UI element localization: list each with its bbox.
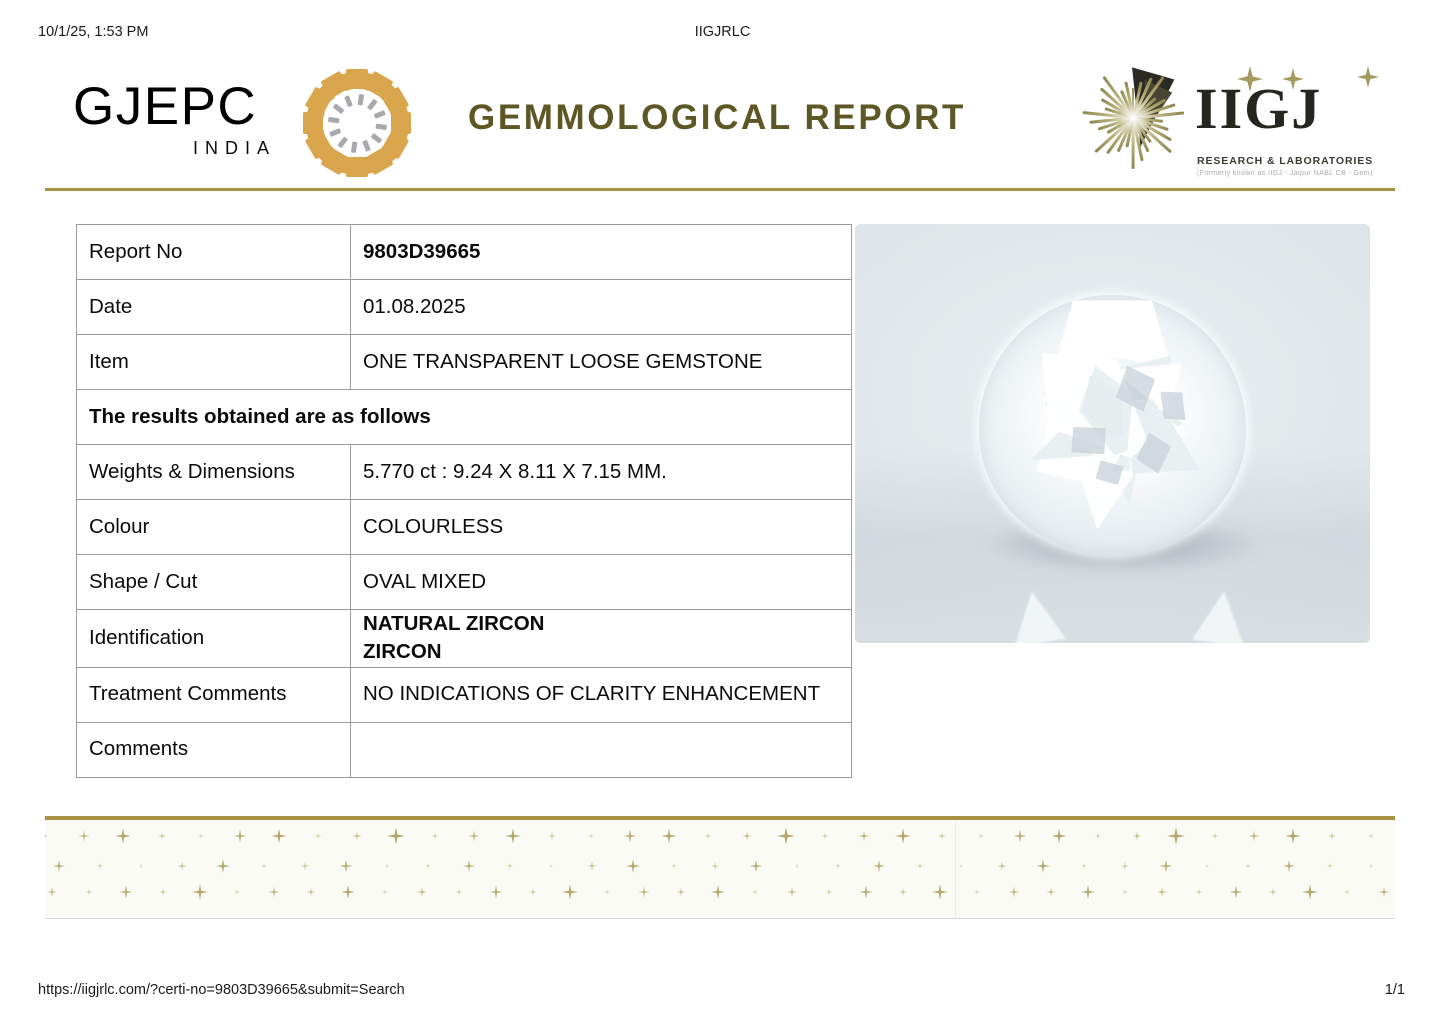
- four-point-star-icon: [261, 863, 267, 869]
- tweezer-prong-right-icon: [1192, 588, 1250, 643]
- gjepc-sunburst-icon: [298, 64, 416, 182]
- four-point-star-icon: [752, 889, 758, 895]
- four-point-star-icon: [917, 863, 924, 870]
- four-point-star-icon: [469, 831, 480, 842]
- four-point-star-icon: [216, 859, 230, 873]
- table-row: Colour COLOURLESS: [77, 500, 852, 555]
- four-point-star-icon: [1133, 832, 1142, 841]
- four-point-star-icon: [1344, 889, 1350, 895]
- four-point-star-icon: [1009, 887, 1020, 898]
- gjepc-emblem-tick: [357, 94, 363, 106]
- four-point-star-icon: [1036, 859, 1050, 873]
- four-point-star-icon: [626, 859, 640, 873]
- four-point-star-icon: [340, 860, 353, 873]
- row-value-colour: COLOURLESS: [351, 500, 852, 555]
- four-point-star-icon: [86, 889, 93, 896]
- four-point-star-icon: [705, 833, 712, 840]
- four-point-star-icon: [895, 828, 911, 844]
- table-row: Item ONE TRANSPARENT LOOSE GEMSTONE: [77, 335, 852, 390]
- four-point-star-icon: [159, 888, 167, 896]
- four-point-star-icon: [234, 889, 240, 895]
- four-point-star-icon: [505, 828, 521, 844]
- four-point-star-icon: [139, 864, 144, 869]
- four-point-star-icon: [711, 885, 725, 899]
- row-label-report-no: Report No: [77, 225, 351, 280]
- iigj-wordmark: IIGJ: [1195, 80, 1322, 138]
- gemstone-oval: [979, 295, 1247, 555]
- table-row-results-banner: The results obtained are as follows: [77, 390, 852, 445]
- gjepc-emblem-tick: [373, 110, 385, 119]
- gjepc-logo: GJEPC INDIA: [73, 62, 383, 182]
- four-point-star-icon: [382, 889, 388, 895]
- four-point-star-icon: [120, 886, 133, 899]
- gjepc-emblem-tick: [327, 117, 339, 123]
- four-point-star-icon: [47, 887, 57, 897]
- four-point-star-icon: [1047, 888, 1056, 897]
- four-point-star-icon: [711, 862, 719, 870]
- row-value-identification: NATURAL ZIRCON ZIRCON: [351, 610, 852, 668]
- four-point-star-icon: [677, 888, 686, 897]
- four-point-star-icon: [899, 888, 907, 896]
- gemstone-photo: [855, 224, 1370, 643]
- tweezer-prong-left-icon: [1006, 587, 1065, 643]
- row-label-treatment-comments: Treatment Comments: [77, 667, 351, 722]
- four-point-star-icon: [938, 832, 946, 840]
- four-point-star-icon: [272, 829, 287, 844]
- results-banner-text: The results obtained are as follows: [77, 390, 852, 445]
- band-divider: [45, 816, 1395, 820]
- four-point-star-icon: [353, 832, 362, 841]
- table-row: Comments: [77, 722, 852, 777]
- four-point-star-icon: [549, 864, 554, 869]
- four-point-star-icon: [548, 832, 556, 840]
- four-point-star-icon: [859, 831, 870, 842]
- four-point-star-icon: [1205, 864, 1210, 869]
- four-point-star-icon: [1302, 884, 1318, 900]
- four-point-star-icon: [307, 888, 316, 897]
- gjepc-emblem-tick: [332, 103, 344, 114]
- four-point-star-icon: [1052, 829, 1067, 844]
- four-point-star-icon: [463, 860, 475, 872]
- four-point-star-icon: [562, 884, 578, 900]
- table-row: Weights & Dimensions 5.770 ct : 9.24 X 8…: [77, 445, 852, 500]
- print-document-title: IIGJRLC: [0, 24, 1445, 40]
- gjepc-emblem-tick: [337, 137, 348, 149]
- sparkle-star-icon: [1357, 66, 1379, 88]
- row-value-item: ONE TRANSPARENT LOOSE GEMSTONE: [351, 335, 852, 390]
- gjepc-emblem-tick: [375, 124, 387, 130]
- browser-print-header: 10/1/25, 1:53 PM IIGJRLC: [0, 24, 1445, 44]
- four-point-star-icon: [974, 889, 980, 895]
- four-point-star-icon: [1245, 863, 1251, 869]
- four-point-star-icon: [53, 860, 65, 872]
- page-title: GEMMOLOGICAL REPORT: [417, 98, 1017, 138]
- four-point-star-icon: [1157, 887, 1167, 897]
- row-value-date: 01.08.2025: [351, 280, 852, 335]
- row-value-treatment-comments: NO INDICATIONS OF CLARITY ENHANCEMENT: [351, 667, 852, 722]
- table-row: Treatment Comments NO INDICATIONS OF CLA…: [77, 667, 852, 722]
- four-point-star-icon: [1095, 833, 1102, 840]
- gjepc-emblem-tick: [370, 133, 382, 144]
- four-point-star-icon: [341, 885, 355, 899]
- four-point-star-icon: [1328, 832, 1336, 840]
- four-point-star-icon: [507, 863, 514, 870]
- page-number: 1/1: [1385, 982, 1405, 998]
- four-point-star-icon: [588, 862, 597, 871]
- four-point-star-icon: [158, 832, 166, 840]
- gjepc-wordmark: GJEPC: [73, 80, 257, 133]
- row-label-shape-cut: Shape / Cut: [77, 555, 351, 610]
- iigj-subtext-small: (Formerly known as IIGJ - Jaipur NABL CB…: [1197, 170, 1373, 177]
- four-point-star-icon: [624, 830, 637, 843]
- iigj-subtext: RESEARCH & LABORATORIES: [1197, 155, 1373, 167]
- row-label-date: Date: [77, 280, 351, 335]
- four-point-star-icon: [1196, 889, 1203, 896]
- four-point-star-icon: [1369, 864, 1374, 869]
- four-point-star-icon: [743, 832, 752, 841]
- four-point-star-icon: [315, 833, 322, 840]
- browser-print-footer: https://iigjrlc.com/?certi-no=9803D39665…: [0, 982, 1445, 1002]
- four-point-star-icon: [662, 829, 677, 844]
- four-point-star-icon: [998, 862, 1007, 871]
- report-masthead: GJEPC INDIA GEMMOLOGICAL REPORT IIGJ RES…: [45, 52, 1393, 182]
- four-point-star-icon: [79, 831, 90, 842]
- four-point-star-icon: [671, 863, 677, 869]
- four-point-star-icon: [1230, 886, 1243, 899]
- four-point-star-icon: [385, 864, 390, 869]
- four-point-star-icon: [787, 887, 797, 897]
- masthead-divider: [45, 188, 1395, 191]
- four-point-star-icon: [777, 827, 795, 845]
- gjepc-emblem-tick: [366, 99, 377, 111]
- four-point-star-icon: [234, 830, 247, 843]
- four-point-star-icon: [1122, 889, 1128, 895]
- four-point-star-icon: [978, 833, 984, 839]
- four-point-star-icon: [456, 889, 463, 896]
- four-point-star-icon: [192, 884, 208, 900]
- four-point-star-icon: [604, 889, 610, 895]
- row-value-weights-dimensions: 5.770 ct : 9.24 X 8.11 X 7.15 MM.: [351, 445, 852, 500]
- four-point-star-icon: [1283, 860, 1295, 872]
- four-point-star-icon: [1285, 828, 1301, 844]
- four-point-star-icon: [860, 886, 873, 899]
- table-row: Identification NATURAL ZIRCON ZIRCON: [77, 610, 852, 668]
- four-point-star-icon: [873, 860, 885, 872]
- four-point-star-icon: [198, 833, 204, 839]
- decorative-sparkle-band: [45, 816, 1395, 919]
- table-row: Date 01.08.2025: [77, 280, 852, 335]
- four-point-star-icon: [1327, 863, 1334, 870]
- four-point-star-icon: [1160, 860, 1173, 873]
- four-point-star-icon: [1121, 862, 1129, 870]
- iigj-starburst-icon: [1077, 62, 1189, 174]
- four-point-star-icon: [835, 863, 841, 869]
- four-point-star-icon: [97, 863, 104, 870]
- four-point-star-icon: [1368, 833, 1374, 839]
- four-point-star-icon: [425, 863, 431, 869]
- four-point-star-icon: [1081, 863, 1087, 869]
- four-point-star-icon: [269, 887, 280, 898]
- report-details-table: Report No 9803D39665 Date 01.08.2025 Ite…: [76, 224, 852, 778]
- gjepc-subtext: INDIA: [193, 138, 276, 159]
- four-point-star-icon: [529, 888, 537, 896]
- four-point-star-icon: [1014, 830, 1027, 843]
- row-value-comments: [351, 722, 852, 777]
- table-row: Report No 9803D39665: [77, 225, 852, 280]
- row-label-comments: Comments: [77, 722, 351, 777]
- source-url: https://iigjrlc.com/?certi-no=9803D39665…: [38, 982, 405, 998]
- row-label-colour: Colour: [77, 500, 351, 555]
- four-point-star-icon: [932, 884, 948, 900]
- four-point-star-icon: [45, 833, 49, 840]
- four-point-star-icon: [1249, 831, 1260, 842]
- row-value-shape-cut: OVAL MIXED: [351, 555, 852, 610]
- four-point-star-icon: [1212, 833, 1219, 840]
- table-row: Shape / Cut OVAL MIXED: [77, 555, 852, 610]
- four-point-star-icon: [795, 864, 800, 869]
- four-point-star-icon: [387, 827, 405, 845]
- iigj-logo: IIGJ RESEARCH & LABORATORIES (Formerly k…: [1077, 54, 1387, 182]
- four-point-star-icon: [1167, 827, 1185, 845]
- four-point-star-icon: [490, 886, 503, 899]
- four-point-star-icon: [115, 828, 131, 844]
- gjepc-emblem-tick: [362, 140, 371, 152]
- four-point-star-icon: [1081, 885, 1095, 899]
- band-seam: [955, 820, 956, 918]
- row-label-item: Item: [77, 335, 351, 390]
- identification-line-1: NATURAL ZIRCON: [363, 610, 839, 638]
- four-point-star-icon: [417, 887, 427, 897]
- row-value-report-no: 9803D39665: [351, 225, 852, 280]
- four-point-star-icon: [588, 833, 594, 839]
- identification-line-2: ZIRCON: [363, 638, 839, 666]
- four-point-star-icon: [1379, 887, 1390, 898]
- four-point-star-icon: [750, 860, 763, 873]
- row-label-identification: Identification: [77, 610, 351, 668]
- four-point-star-icon: [301, 862, 309, 870]
- gjepc-emblem-tick: [350, 141, 356, 153]
- four-point-star-icon: [639, 887, 650, 898]
- four-point-star-icon: [178, 862, 187, 871]
- row-label-weights-dimensions: Weights & Dimensions: [77, 445, 351, 500]
- gjepc-emblem-tick: [344, 95, 353, 107]
- four-point-star-icon: [822, 833, 829, 840]
- four-point-star-icon: [826, 889, 833, 896]
- four-point-star-icon: [959, 864, 964, 869]
- gjepc-emblem-tick: [329, 128, 341, 137]
- four-point-star-icon: [432, 833, 439, 840]
- four-point-star-icon: [1269, 888, 1277, 896]
